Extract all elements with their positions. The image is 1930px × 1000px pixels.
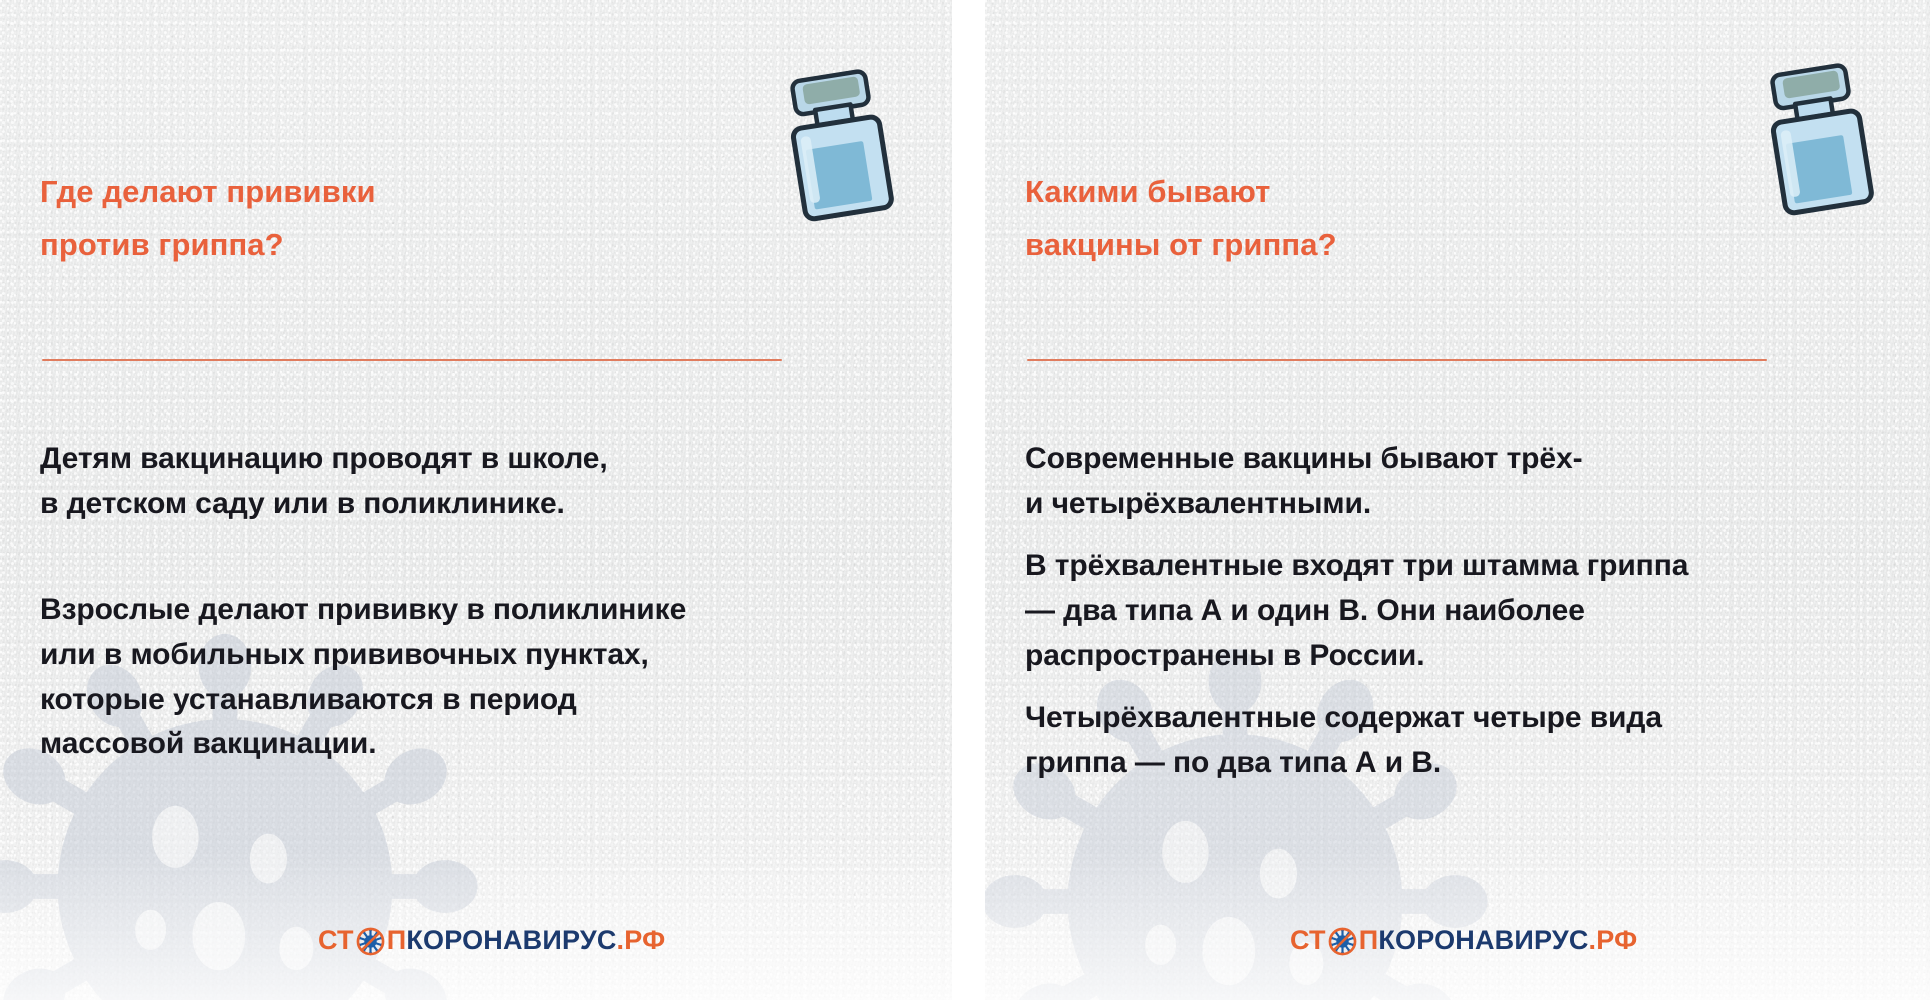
poster-card-left: Где делают прививки против гриппа? Детям… [0, 0, 952, 1000]
paragraph: Четырёхвалентные содержат четыре вида гр… [1025, 696, 1905, 785]
body-text-block: Современные вакцины бывают трёх- и четыр… [1025, 437, 1905, 786]
paragraph: В трёхвалентные входят три штамма гриппа… [1025, 544, 1905, 678]
logo-word: КОРОНАВИРУС [406, 927, 616, 954]
panel-separator-gap [952, 0, 985, 1000]
page-title: Где делают прививки против гриппа? [40, 165, 376, 272]
heading-divider [1027, 359, 1767, 361]
logo-middle: П [387, 927, 407, 954]
logo-prefix: СТ [1290, 927, 1326, 954]
poster-card-right: Какими бывают вакцины от гриппа? Совреме… [985, 0, 1930, 1000]
paragraph: Взрослые делают прививку в поликлинике и… [40, 588, 920, 767]
vaccine-vial-icon [770, 42, 905, 232]
paragraph: Современные вакцины бывают трёх- и четыр… [1025, 437, 1905, 526]
logo-suffix: .РФ [1589, 927, 1638, 954]
logo-middle: П [1359, 927, 1379, 954]
stopkoronavirus-logo[interactable]: СТ [1290, 925, 1637, 956]
vaccine-vial-icon [1750, 36, 1885, 226]
stopkoronavirus-logo[interactable]: СТ [318, 925, 665, 956]
paragraph: Детям вакцинацию проводят в школе, в дет… [40, 437, 920, 526]
logo-prefix: СТ [318, 927, 354, 954]
stop-virus-icon [1327, 926, 1358, 957]
body-text-block: Детям вакцинацию проводят в школе, в дет… [40, 437, 920, 767]
logo-word: КОРОНАВИРУС [1378, 927, 1588, 954]
page-title: Какими бывают вакцины от гриппа? [1025, 165, 1337, 272]
heading-divider [42, 359, 782, 361]
logo-suffix: .РФ [617, 927, 666, 954]
poster-pair-stage: Где делают прививки против гриппа? Детям… [0, 0, 1930, 1000]
stop-virus-icon [355, 926, 386, 957]
